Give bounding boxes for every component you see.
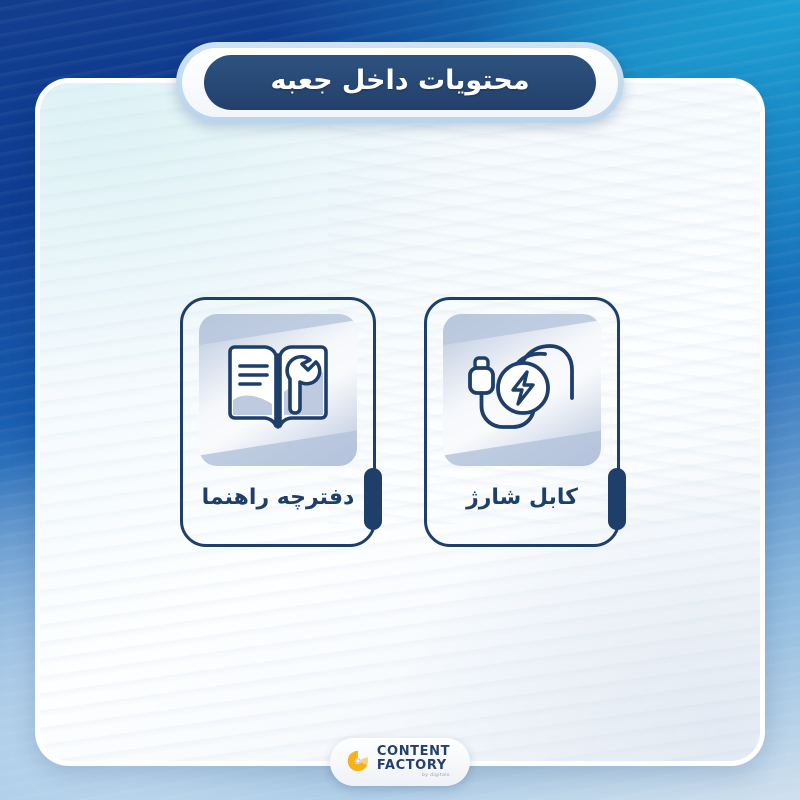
- brand-wordmark: CONTENT FACTORY by digitalo: [377, 745, 450, 779]
- poster-root: دفترچه راهنما: [0, 0, 800, 800]
- item-card-manual[interactable]: دفترچه راهنما: [180, 297, 376, 547]
- brand-line-2: FACTORY: [377, 759, 450, 772]
- icon-container-manual: [199, 314, 357, 466]
- page-title: محتویات داخل جعبه: [238, 64, 562, 98]
- brand-line-1: CONTENT: [377, 745, 450, 758]
- banner-outer-ring: محتویات داخل جعبه: [176, 42, 624, 123]
- item-label-charging-cable: کابل شارژ: [466, 484, 578, 513]
- title-banner: محتویات داخل جعبه: [176, 42, 624, 123]
- item-card-charging-cable[interactable]: کابل شارژ: [424, 297, 620, 547]
- open-book-wrench-icon: [224, 342, 332, 438]
- items-row: دفترچه راهنما: [40, 297, 760, 547]
- card-tab-manual: [364, 468, 382, 530]
- banner-white-pill: محتویات داخل جعبه: [182, 48, 618, 117]
- card-tab-charging-cable: [608, 468, 626, 530]
- banner-navy-pill: محتویات داخل جعبه: [204, 55, 596, 110]
- brand-line-3: by digitalo: [422, 774, 450, 779]
- content-factory-c-icon: [346, 749, 370, 773]
- content-panel: دفترچه راهنما: [35, 78, 765, 766]
- footer-brand-logo[interactable]: CONTENT FACTORY by digitalo: [330, 738, 470, 787]
- charging-cable-icon: [467, 340, 577, 440]
- item-label-manual: دفترچه راهنما: [202, 484, 355, 513]
- icon-container-charging-cable: [443, 314, 601, 466]
